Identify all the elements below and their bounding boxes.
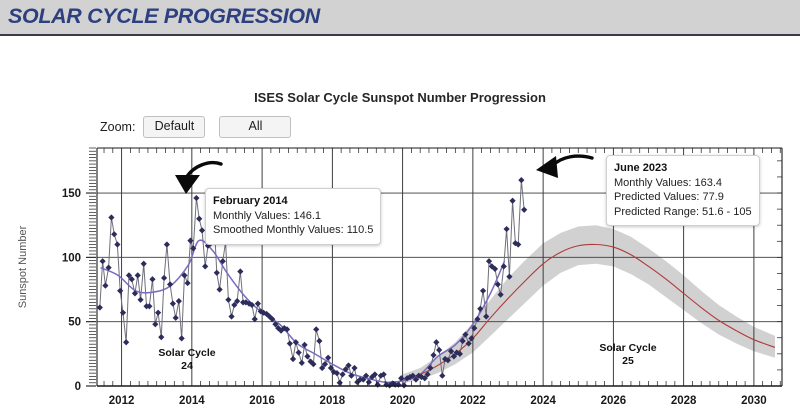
tooltip-february-2014: February 2014 Monthly Values: 146.1 Smoo… bbox=[205, 188, 381, 245]
tooltip-jun2023-title: June 2023 bbox=[614, 161, 752, 176]
tooltip-june-2023: June 2023 Monthly Values: 163.4 Predicte… bbox=[606, 155, 760, 226]
tooltip-jun2023-row-2: Predicted Range: 51.6 - 105 bbox=[614, 205, 752, 220]
x-tick-label-2030: 2030 bbox=[741, 395, 767, 407]
cycle-24-label-line1: Solar Cycle bbox=[158, 347, 215, 359]
x-tick-label-2024: 2024 bbox=[530, 395, 556, 407]
page-header: SOLAR CYCLE PROGRESSION bbox=[0, 0, 800, 36]
y-tick-label-100: 100 bbox=[62, 252, 81, 264]
x-tick-label-2020: 2020 bbox=[390, 395, 416, 407]
y-tick-label-50: 50 bbox=[68, 317, 81, 329]
x-tick-label-2026: 2026 bbox=[601, 395, 627, 407]
cycle-24-label-line2: 24 bbox=[181, 360, 193, 372]
tooltip-feb2014-row-1: Smoothed Monthly Values: 110.5 bbox=[213, 223, 373, 238]
tooltip-jun2023-row-1: Predicted Values: 77.9 bbox=[614, 190, 752, 205]
x-tick-label-2022: 2022 bbox=[460, 395, 486, 407]
x-tick-label-2028: 2028 bbox=[671, 395, 697, 407]
x-tick-label-2014: 2014 bbox=[179, 395, 205, 407]
x-tick-label-2012: 2012 bbox=[109, 395, 135, 407]
y-tick-label-150: 150 bbox=[62, 188, 81, 200]
cycle-25-label-line2: 25 bbox=[622, 355, 634, 367]
x-tick-label-2018: 2018 bbox=[320, 395, 346, 407]
cycle-25-label-line1: Solar Cycle bbox=[599, 342, 656, 354]
y-axis-label: Sunspot Number bbox=[17, 225, 29, 308]
tooltip-feb2014-row-0: Monthly Values: 146.1 bbox=[213, 209, 373, 224]
chart-area: ISES Solar Cycle Sunspot Number Progress… bbox=[0, 36, 800, 414]
page-title: SOLAR CYCLE PROGRESSION bbox=[8, 5, 320, 29]
tooltip-jun2023-row-0: Monthly Values: 163.4 bbox=[614, 176, 752, 191]
y-tick-label-0: 0 bbox=[75, 381, 81, 393]
tooltip-feb2014-title: February 2014 bbox=[213, 194, 373, 209]
x-tick-label-2016: 2016 bbox=[249, 395, 275, 407]
